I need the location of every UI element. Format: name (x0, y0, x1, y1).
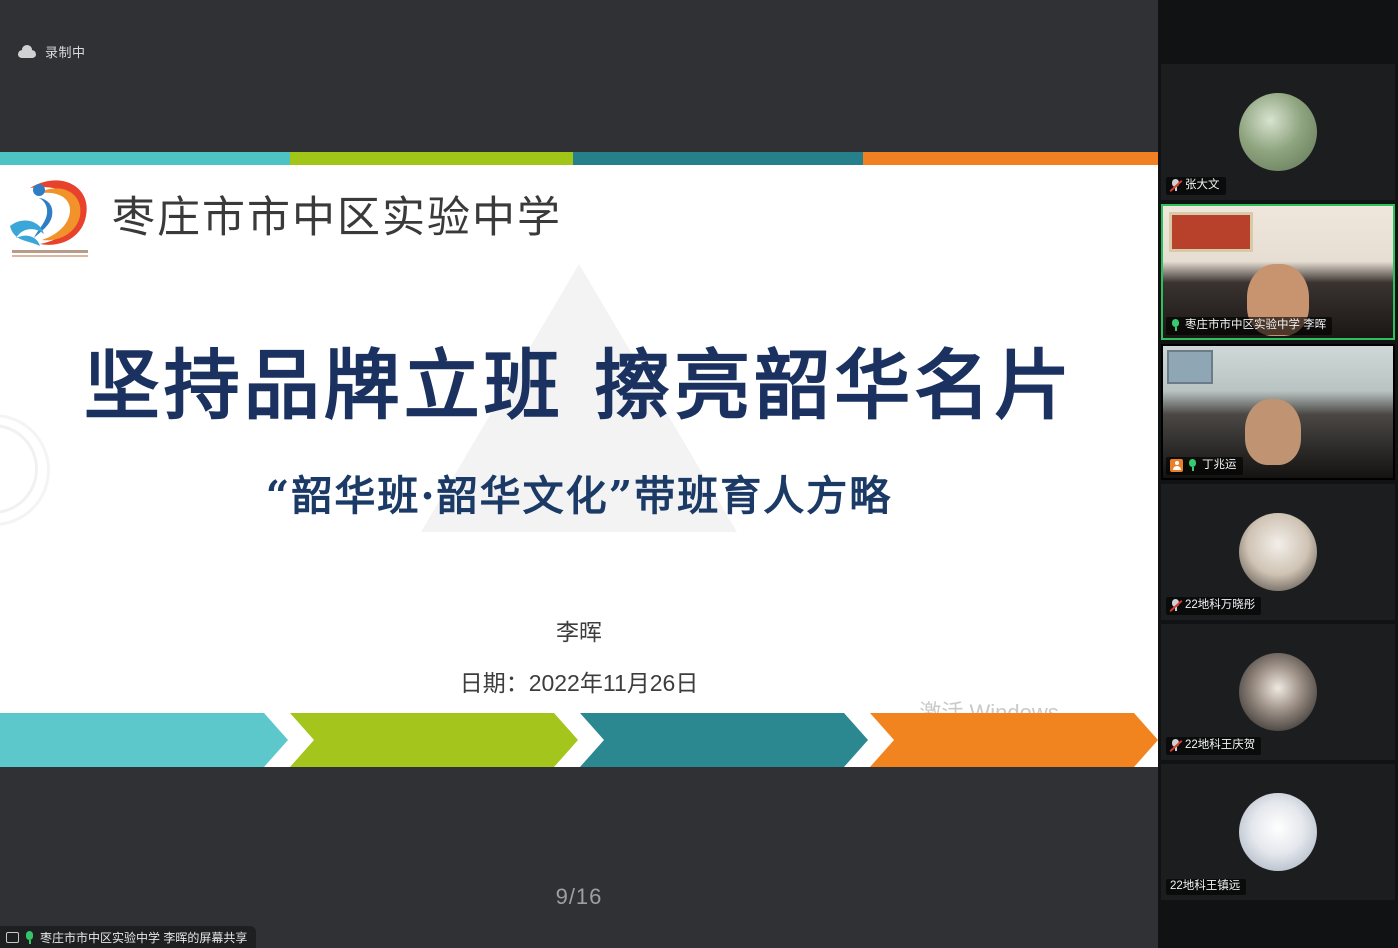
slide-title: 坚持品牌立班 擦亮韶华名片 (0, 324, 1158, 434)
color-band-segment (863, 152, 1158, 165)
chevron-segment (870, 713, 1158, 767)
school-name-text: 枣庄市市中区实验中学 (112, 183, 562, 245)
participant-tile[interactable]: 枣庄市市中区实验中学 李晖 (1161, 204, 1395, 340)
screen-share-status-bar: 枣庄市市中区实验中学 李晖的屏幕共享 (0, 926, 256, 948)
recording-indicator: 录制中 (18, 42, 86, 61)
participant-filmstrip[interactable]: 张大文枣庄市市中区实验中学 李晖丁兆运22地科万晓彤22地科王庆贺22地科王镇远 (1158, 0, 1398, 948)
avatar (1239, 653, 1317, 731)
microphone-muted-icon (1170, 599, 1181, 612)
microphone-muted-icon (1170, 179, 1181, 192)
participant-tile[interactable]: 22地科王庆贺 (1161, 624, 1395, 760)
host-badge-icon (1170, 459, 1183, 472)
participant-label: 枣庄市市中区实验中学 李晖 (1166, 317, 1332, 335)
avatar (1239, 513, 1317, 591)
participant-name: 22地科王镇远 (1170, 881, 1240, 893)
microphone-muted-icon (1170, 739, 1181, 752)
chevron-segment (290, 713, 578, 767)
slide-bottom-chevrons (0, 713, 1158, 767)
participant-name: 枣庄市市中区实验中学 李晖 (1185, 320, 1326, 332)
participant-label: 张大文 (1166, 177, 1226, 195)
slide-bottom-backdrop (0, 767, 1158, 948)
microphone-icon (25, 931, 34, 944)
avatar (1239, 793, 1317, 871)
school-header: 枣庄市市中区实验中学 (6, 168, 562, 260)
participant-name: 张大文 (1185, 180, 1220, 192)
slide-presenter-name: 李晖 (0, 613, 1158, 647)
screen-share-icon (6, 932, 19, 943)
participant-label: 22地科王庆贺 (1166, 737, 1261, 755)
presentation-slide: 枣庄市市中区实验中学 坚持品牌立班 擦亮韶华名片 “韶华班·韶华文化”带班育人方… (0, 152, 1158, 767)
participant-tile[interactable]: 22地科万晓彤 (1161, 484, 1395, 620)
participant-tile[interactable]: 丁兆运 (1161, 344, 1395, 480)
cloud-recording-icon (18, 45, 36, 58)
microphone-icon (1187, 459, 1198, 472)
microphone-icon (1170, 319, 1181, 332)
participant-tile[interactable]: 22地科王镇远 (1161, 764, 1395, 900)
color-band-segment (0, 152, 290, 165)
participant-label: 22地科万晓彤 (1166, 597, 1261, 615)
share-status-text: 枣庄市市中区实验中学 李晖的屏幕共享 (40, 929, 247, 946)
color-band-segment (290, 152, 574, 165)
participant-name: 丁兆运 (1202, 460, 1237, 472)
participant-label: 22地科王镇远 (1166, 879, 1246, 896)
recording-label: 录制中 (45, 42, 86, 61)
slide-top-color-band (0, 152, 1158, 165)
slide-date: 日期：2022年11月26日 (0, 664, 1158, 698)
participant-label: 丁兆运 (1166, 457, 1243, 475)
slide-counter: 9/16 (0, 884, 1158, 910)
participant-tile[interactable]: 张大文 (1161, 64, 1395, 200)
participant-name: 22地科万晓彤 (1185, 600, 1255, 612)
color-band-segment (573, 152, 863, 165)
school-logo-icon (6, 168, 98, 260)
zoom-meeting-window: 录制中 枣庄市 (0, 0, 1398, 948)
chevron-segment (580, 713, 868, 767)
avatar (1239, 93, 1317, 171)
shared-screen-region: 录制中 枣庄市 (0, 0, 1158, 948)
participant-name: 22地科王庆贺 (1185, 740, 1255, 752)
chevron-segment (0, 713, 288, 767)
slide-subtitle: “韶华班·韶华文化”带班育人方略 (0, 462, 1158, 522)
